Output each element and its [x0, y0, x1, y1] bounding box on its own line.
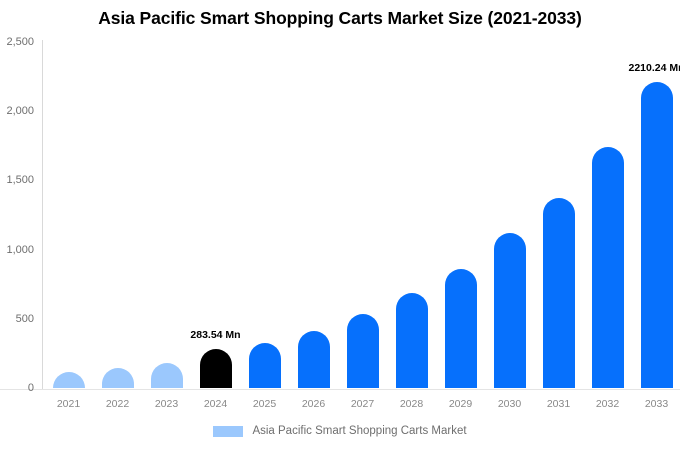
bar-2029[interactable] — [445, 269, 477, 388]
y-axis-tick-label: 500 — [0, 313, 34, 325]
bar-2028[interactable] — [396, 293, 428, 388]
x-axis-tick-label-2025: 2025 — [240, 398, 289, 410]
bar-slot — [387, 42, 436, 388]
bar-slot — [338, 42, 387, 388]
bar-slot — [485, 42, 534, 388]
bar-2022[interactable] — [102, 368, 134, 388]
y-axis-tick-label: 2,500 — [0, 36, 34, 48]
bar-slot — [583, 42, 632, 388]
x-axis-tick-label-2026: 2026 — [289, 398, 338, 410]
plot-area: 283.54 Mn2210.24 Mn — [42, 42, 680, 388]
bar-2033[interactable] — [641, 82, 673, 388]
bar-2021[interactable] — [53, 372, 85, 388]
x-axis-tick-label-2024: 2024 — [191, 398, 240, 410]
chart-legend: Asia Pacific Smart Shopping Carts Market — [0, 425, 680, 437]
chart-title: Asia Pacific Smart Shopping Carts Market… — [0, 8, 680, 29]
x-axis-tick-label-2033: 2033 — [632, 398, 680, 410]
bar-2030[interactable] — [494, 233, 526, 388]
x-axis-tick-label-2028: 2028 — [387, 398, 436, 410]
legend-swatch-icon — [213, 426, 243, 437]
x-axis-tick-label-2032: 2032 — [583, 398, 632, 410]
x-axis-tick-label-2023: 2023 — [142, 398, 191, 410]
x-axis-line — [0, 389, 680, 390]
bar-slot — [240, 42, 289, 388]
bar-2027[interactable] — [347, 314, 379, 388]
x-axis-tick-label-2029: 2029 — [436, 398, 485, 410]
bar-2023[interactable] — [151, 363, 183, 388]
x-axis-tick-label-2022: 2022 — [93, 398, 142, 410]
bar-2031[interactable] — [543, 198, 575, 388]
bar-slot — [93, 42, 142, 388]
y-axis-tick-label: 1,500 — [0, 174, 34, 186]
bar-slot — [44, 42, 93, 388]
bar-2025[interactable] — [249, 343, 281, 388]
bar-2024[interactable] — [200, 349, 232, 388]
bar-chart: Asia Pacific Smart Shopping Carts Market… — [0, 0, 680, 450]
bar-slot — [142, 42, 191, 388]
bar-2026[interactable] — [298, 331, 330, 388]
bar-slot — [436, 42, 485, 388]
y-axis-tick-label: 2,000 — [0, 105, 34, 117]
bar-2032[interactable] — [592, 147, 624, 388]
bar-value-label-2033: 2210.24 Mn — [628, 62, 680, 74]
x-axis-tick-label-2031: 2031 — [534, 398, 583, 410]
legend-label: Asia Pacific Smart Shopping Carts Market — [252, 425, 466, 437]
x-axis-tick-label-2021: 2021 — [44, 398, 93, 410]
x-axis-tick-label-2027: 2027 — [338, 398, 387, 410]
bar-slot: 283.54 Mn — [191, 42, 240, 388]
y-axis-tick-label: 0 — [0, 382, 34, 394]
bar-slot — [289, 42, 338, 388]
bar-value-label-2024: 283.54 Mn — [190, 329, 240, 341]
x-axis-tick-label-2030: 2030 — [485, 398, 534, 410]
y-axis-tick-label: 1,000 — [0, 244, 34, 256]
bar-slot: 2210.24 Mn — [632, 42, 680, 388]
bar-slot — [534, 42, 583, 388]
